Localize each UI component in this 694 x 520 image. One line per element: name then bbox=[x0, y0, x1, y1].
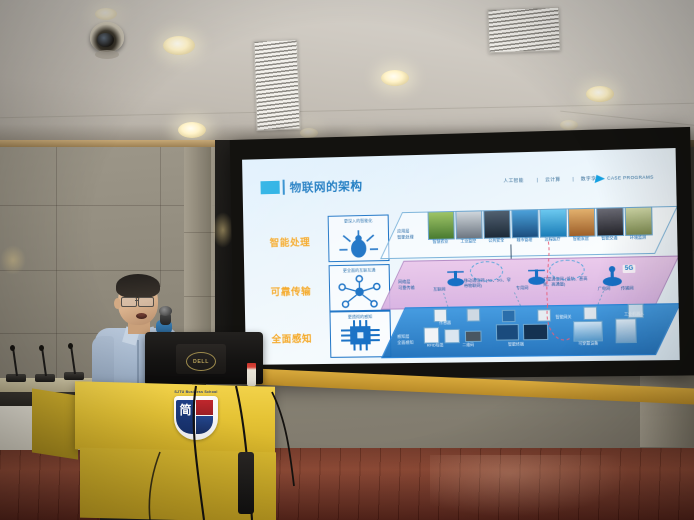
app-thumb-caption: 智能家居 bbox=[566, 237, 596, 243]
ceiling-downlight bbox=[163, 36, 195, 55]
crest-character: 简 bbox=[176, 404, 195, 416]
presenter-ear bbox=[114, 298, 121, 309]
screen-display-area: 物联网的架构 人工智能 | 云计算 | 数字孪生 CASE PROGRAMS 智… bbox=[242, 148, 680, 365]
nav-text-ai: 人工智能 bbox=[503, 178, 523, 184]
network-nodes-group bbox=[392, 256, 666, 308]
microphone-head-icon bbox=[68, 343, 73, 349]
presenter-hair bbox=[116, 274, 160, 298]
slide-title: 物联网的架构 bbox=[290, 178, 363, 196]
app-thumb bbox=[483, 210, 511, 239]
water-bottle bbox=[247, 363, 256, 386]
school-crest: SJTU Business School 简 bbox=[168, 388, 224, 444]
app-thumb-caption: 远程医疗 bbox=[538, 237, 567, 243]
5g-badge: 5G bbox=[623, 265, 636, 273]
camera-mount bbox=[95, 50, 119, 59]
microchip-icon-box: 更透彻的感知 bbox=[329, 311, 391, 358]
dome-security-camera-icon bbox=[90, 22, 124, 52]
app-thumb bbox=[539, 208, 567, 237]
app-thumb bbox=[455, 210, 482, 239]
microchip-icon bbox=[331, 320, 391, 355]
eyeglasses-lens-left bbox=[121, 297, 137, 307]
app-thumb bbox=[511, 209, 539, 238]
floor-reflection bbox=[430, 455, 630, 517]
slide-title-divider bbox=[283, 180, 285, 195]
network-hub-icon-caption: 更全面的互联互通 bbox=[330, 267, 389, 274]
presentation-photo-scene: 物联网的架构 人工智能 | 云计算 | 数字孪生 CASE PROGRAMS 智… bbox=[0, 0, 694, 520]
app-thumb-caption: 环境监测 bbox=[623, 235, 653, 241]
crest-top-text: SJTU Business School bbox=[174, 390, 218, 394]
ceiling-vent-right bbox=[487, 7, 560, 53]
handheld-microphone-head-icon bbox=[159, 306, 172, 316]
device-thumb bbox=[424, 327, 440, 343]
slide-nav-item-1: 云计算 bbox=[545, 177, 561, 184]
slide-nav-separator-0: | bbox=[537, 177, 539, 182]
network-hub-icon-box: 更全面的互联互通 bbox=[329, 264, 391, 311]
device-thumb bbox=[465, 331, 482, 342]
ceiling-vent-left bbox=[253, 39, 300, 130]
network-node-caption: 专用网 bbox=[516, 285, 529, 291]
network-node-caption: 移动通信网 (4G、5G、窄带物联网) bbox=[464, 277, 512, 288]
nav-text-cloud: 云计算 bbox=[545, 177, 560, 183]
layer-label-perception: 全面感知 bbox=[271, 331, 312, 346]
device-thumb bbox=[444, 329, 460, 343]
smart-lamp-icon bbox=[329, 225, 389, 261]
ceiling-downlight bbox=[560, 120, 578, 130]
sensor-thumb bbox=[467, 308, 481, 321]
brand-logo-text: CASE PROGRAMS bbox=[607, 174, 654, 180]
microphone-head-icon bbox=[39, 345, 44, 351]
device-caption: RFID标签 bbox=[418, 343, 453, 349]
wall-light-reflection bbox=[0, 245, 26, 275]
smart-lamp-icon-box: 更深入的智能化 bbox=[328, 214, 390, 262]
projection-screen: 物联网的架构 人工智能 | 云计算 | 数字孪生 CASE PROGRAMS 智… bbox=[230, 127, 694, 380]
sensor-thumb bbox=[502, 310, 516, 322]
app-thumb-caption: 智能交通 bbox=[595, 236, 625, 242]
app-thumb bbox=[596, 207, 624, 236]
application-band-sublabel: 智能处理 bbox=[397, 234, 414, 240]
ceiling-downlight bbox=[178, 122, 206, 138]
slide-canvas: 物联网的架构 人工智能 | 云计算 | 数字孪生 CASE PROGRAMS 智… bbox=[242, 148, 680, 365]
perception-band-sublabel: 全面感知 bbox=[397, 340, 414, 346]
app-thumb bbox=[568, 208, 596, 237]
slide-title-accent-icon bbox=[260, 181, 279, 195]
crest-quadrant-top-right bbox=[196, 400, 213, 415]
floor-equipment bbox=[238, 452, 254, 514]
layer-label-network: 可靠传输 bbox=[270, 284, 311, 299]
podium-side-panel bbox=[32, 388, 78, 459]
device-thumb bbox=[615, 318, 637, 343]
ceiling-downlight bbox=[95, 8, 117, 20]
device-thumb bbox=[523, 324, 548, 341]
app-thumb-caption: 公共安全 bbox=[482, 238, 511, 244]
presenter-mouth bbox=[136, 313, 147, 319]
eyeglasses-lens-right bbox=[138, 297, 154, 307]
dell-logo-text: DELL bbox=[193, 359, 209, 365]
app-thumb-caption: 城市管理 bbox=[510, 238, 539, 244]
slide-nav-separator-1: | bbox=[572, 176, 574, 181]
network-node-caption: 广电网 bbox=[598, 286, 611, 292]
network-node-caption: 卫星通信网 (低轨、甚高频、高通量) bbox=[543, 276, 594, 287]
slide-nav-item-0: 人工智能 bbox=[503, 178, 524, 185]
device-thumb bbox=[496, 324, 519, 341]
device-caption: 智能网关 bbox=[550, 315, 577, 321]
wall-panel-seam bbox=[160, 147, 161, 287]
wall-panel-seam bbox=[56, 147, 57, 407]
sensor-thumb bbox=[583, 306, 597, 320]
network-hub-icon bbox=[330, 274, 390, 309]
layer-label-application: 智能处理 bbox=[270, 234, 311, 249]
ceiling-downlight bbox=[300, 128, 318, 138]
app-thumb bbox=[625, 206, 653, 235]
microphone-head-icon bbox=[10, 345, 15, 351]
device-caption: 二维码 bbox=[455, 343, 482, 348]
device-thumb bbox=[573, 321, 603, 342]
device-caption: 传感器 bbox=[434, 321, 457, 326]
ceiling-downlight bbox=[586, 86, 614, 102]
5g-badge-caption: 传输网 bbox=[621, 285, 634, 291]
device-caption: 智能终端 bbox=[498, 342, 534, 348]
app-thumb bbox=[428, 211, 455, 240]
app-thumb-caption: 智慧农业 bbox=[426, 239, 455, 245]
eyeglasses-bridge bbox=[135, 300, 138, 301]
smart-lamp-icon-caption: 更深入的智能化 bbox=[329, 218, 388, 225]
device-caption: 工业机器人 bbox=[617, 312, 651, 318]
dell-logo-icon: DELL bbox=[186, 352, 216, 371]
network-node-caption: 互联网 bbox=[433, 286, 445, 292]
ceiling-downlight bbox=[381, 70, 409, 86]
brand-logo-icon bbox=[595, 175, 606, 184]
app-thumb-caption: 工业监控 bbox=[454, 239, 483, 245]
device-caption: 可穿戴设备 bbox=[571, 341, 605, 347]
